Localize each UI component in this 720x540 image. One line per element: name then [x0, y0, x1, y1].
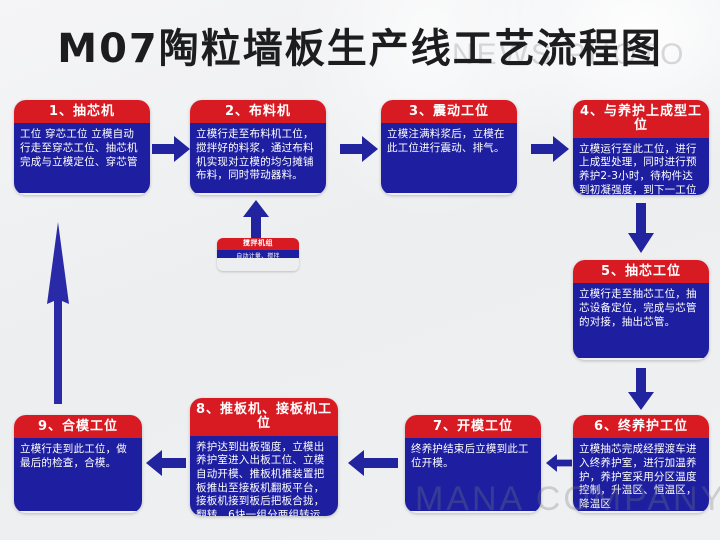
arrow-step-5-to-step-6	[628, 368, 654, 410]
process-box-step-8[interactable]: 8、推板机、接板机工位 养护达到出板强度，立模出养护室进入出板工位、立模自动开模…	[190, 398, 338, 516]
process-box-body: 立模行走到此工位，做最后的检查，合模。	[14, 438, 142, 511]
process-box-header: 6、终养护工位	[573, 415, 709, 438]
arrow-step-2-to-step-3	[340, 136, 378, 162]
mixer-header: 搅拌机组	[217, 238, 299, 250]
process-box-header: 7、开模工位	[405, 415, 541, 438]
process-box-step-5[interactable]: 5、抽芯工位 立模行走至抽芯工位，抽芯设备定位，完成与芯管的对接，抽出芯管。	[573, 260, 709, 360]
process-box-body: 立模行走至布料机工位，搅拌好的料浆，通过布料机实现对立模的均匀摊铺布料，同时带动…	[190, 123, 326, 193]
page-title: M07陶粒墙板生产线工艺流程图	[0, 16, 720, 74]
arrow-step-1-to-step-2	[152, 136, 190, 162]
arrow-step-8-to-step-9	[146, 450, 186, 476]
process-box-body: 养护达到出板强度，立模出养护室进入出板工位、立模自动开模、推板机推装置把板推出至…	[190, 436, 338, 516]
process-box-body: 工位 穿芯工位 立模自动行走至穿芯工位、抽芯机完成与立模定位、穿芯管	[14, 123, 150, 193]
arrow-mixer-to-step-2	[243, 200, 269, 238]
process-box-body: 立模抽芯完成经摆渡车进入终养护室，进行加温养护，养护室采用分区温度控制，升温区、…	[573, 438, 709, 511]
process-box-step-7[interactable]: 7、开模工位 终养护结束后立模到此工位开模。	[405, 415, 541, 513]
process-box-body: 立模行走至抽芯工位，抽芯设备定位，完成与芯管的对接，抽出芯管。	[573, 283, 709, 358]
process-box-step-6[interactable]: 6、终养护工位 立模抽芯完成经摆渡车进入终养护室，进行加温养护，养护室采用分区温…	[573, 415, 709, 513]
process-box-header: 9、合模工位	[14, 415, 142, 438]
process-box-header: 5、抽芯工位	[573, 260, 709, 283]
process-box-header: 4、与养护上成型工位	[573, 100, 709, 138]
process-box-step-1[interactable]: 1、抽芯机 工位 穿芯工位 立模自动行走至穿芯工位、抽芯机完成与立模定位、穿芯管	[14, 100, 150, 195]
arrow-step-6-to-step-7	[546, 450, 572, 476]
process-box-step-3[interactable]: 3、震动工位 立模注满料浆后，立模在此工位进行震动、排气。	[381, 100, 517, 195]
process-box-header: 2、布料机	[190, 100, 326, 123]
process-box-body: 立模注满料浆后，立模在此工位进行震动、排气。	[381, 123, 517, 193]
process-box-body: 立模运行至此工位，进行上成型处理，同时进行预养护2-3小时，待构件达到初凝强度，…	[573, 138, 709, 195]
arrow-step-9-to-step-1	[44, 222, 72, 404]
process-box-header: 8、推板机、接板机工位	[190, 398, 338, 436]
arrow-step-4-to-step-5	[628, 203, 654, 253]
arrow-step-3-to-step-4	[531, 136, 569, 162]
arrow-step-7-to-step-8	[348, 450, 398, 476]
process-box-step-4[interactable]: 4、与养护上成型工位 立模运行至此工位，进行上成型处理，同时进行预养护2-3小时…	[573, 100, 709, 195]
mixer-body: 自动计量、搅拌	[217, 250, 299, 258]
process-box-header: 3、震动工位	[381, 100, 517, 123]
process-box-step-9[interactable]: 9、合模工位 立模行走到此工位，做最后的检查，合模。	[14, 415, 142, 513]
process-box-mixer-unit[interactable]: 搅拌机组 自动计量、搅拌	[217, 238, 299, 271]
process-box-header: 1、抽芯机	[14, 100, 150, 123]
process-box-step-2[interactable]: 2、布料机 立模行走至布料机工位，搅拌好的料浆，通过布料机实现对立模的均匀摊铺布…	[190, 100, 326, 195]
process-box-body: 终养护结束后立模到此工位开模。	[405, 438, 541, 511]
